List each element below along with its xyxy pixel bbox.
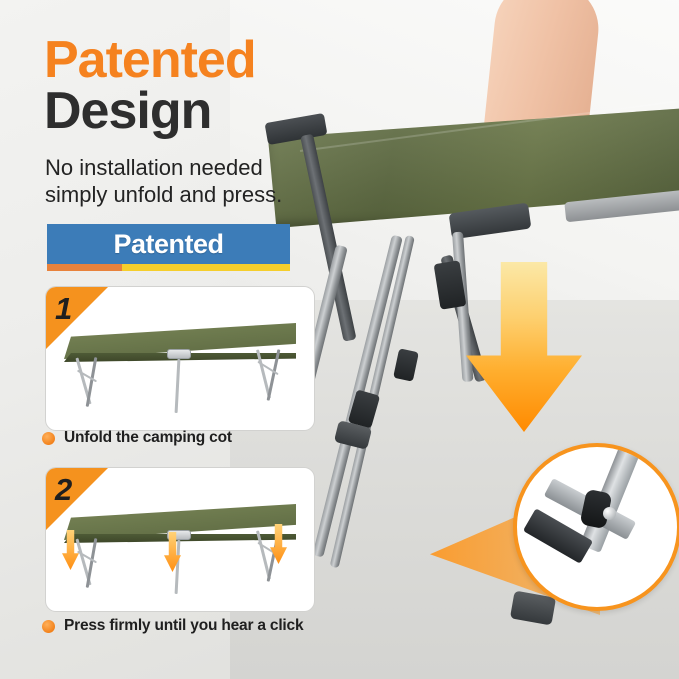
- infographic-canvas: Patented Design No installation needed s…: [0, 0, 679, 679]
- step-badge-2-number: 2: [55, 472, 72, 508]
- step-badge-1-number: 1: [55, 291, 72, 327]
- patented-banner-label: Patented: [113, 229, 223, 260]
- headline-line-2: Design: [44, 87, 374, 136]
- underline-segment-orange: [47, 264, 122, 271]
- underline-segment-yellow: [122, 264, 290, 271]
- magnified-rivet: [603, 507, 616, 520]
- orange-dot-icon: [42, 620, 55, 633]
- subheadline-line-2: simply unfold and press.: [45, 182, 345, 209]
- page-title: Patented Design: [44, 36, 374, 136]
- step-card-1: 1: [45, 286, 315, 431]
- patented-banner: Patented: [47, 224, 290, 264]
- patented-banner-underline: [47, 264, 290, 271]
- step-caption-1-text: Unfold the camping cot: [64, 429, 232, 447]
- leg-joint-magnifier-icon: [513, 443, 679, 611]
- subheadline-line-1: No installation needed: [45, 155, 345, 182]
- step-caption-1: Unfold the camping cot: [42, 429, 232, 447]
- headline-line-1: Patented: [44, 36, 374, 85]
- subheadline: No installation needed simply unfold and…: [45, 155, 345, 209]
- step-caption-2-text: Press firmly until you hear a click: [64, 617, 303, 635]
- step-caption-2: Press firmly until you hear a click: [42, 617, 303, 635]
- orange-dot-icon: [42, 432, 55, 445]
- illustration-center-hinge: [167, 349, 191, 359]
- illustration-leg-2a: [175, 359, 181, 413]
- step-card-2: 2: [45, 467, 315, 612]
